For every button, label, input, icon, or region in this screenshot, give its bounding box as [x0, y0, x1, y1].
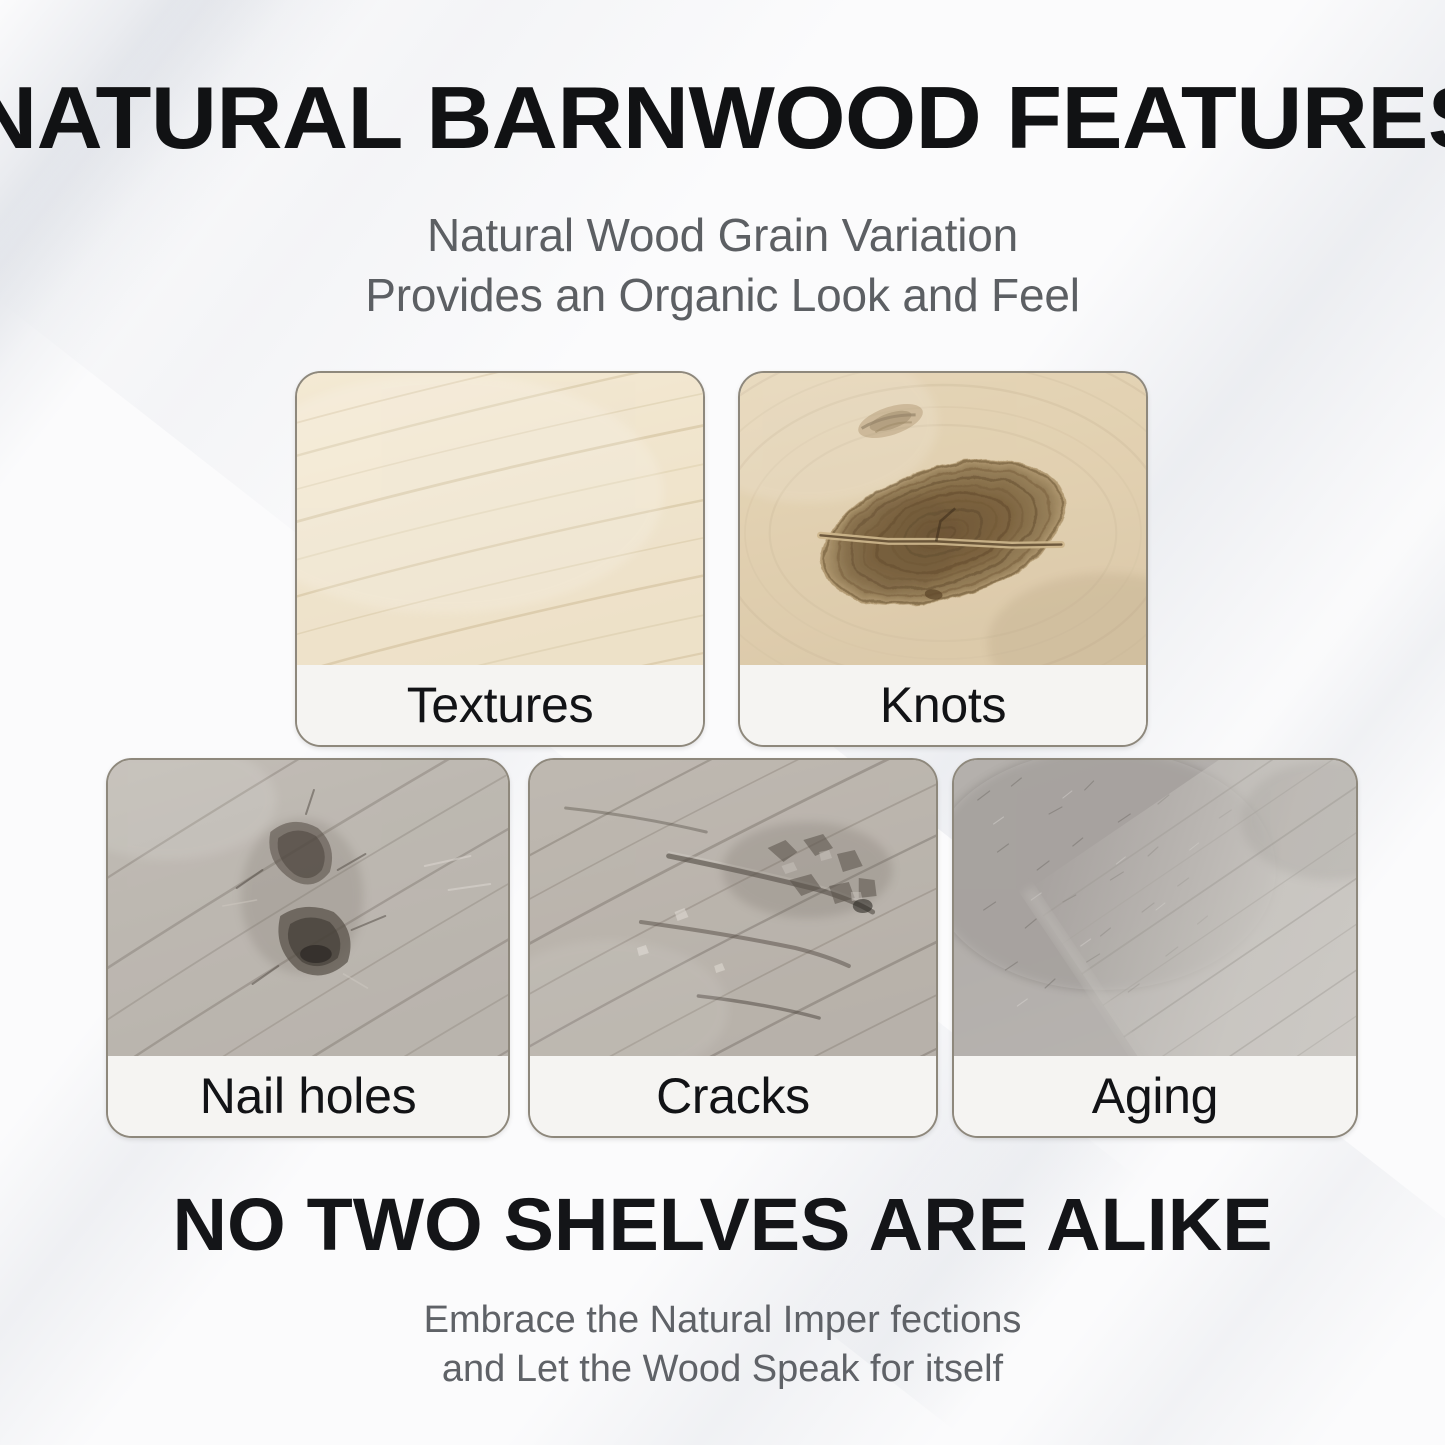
- card-label-textures: Textures: [407, 680, 594, 730]
- card-label-strip: Knots: [740, 665, 1146, 745]
- subtitle-line-1: Natural Wood Grain Variation: [0, 206, 1445, 266]
- texture-image-nail-holes: [108, 760, 508, 1060]
- card-label-nail-holes: Nail holes: [200, 1071, 417, 1121]
- card-label-strip: Aging: [954, 1056, 1356, 1136]
- footer-note-line-2: and Let the Wood Speak for itself: [0, 1345, 1445, 1394]
- feature-card-cracks[interactable]: Cracks: [528, 758, 938, 1138]
- feature-card-textures[interactable]: Textures: [295, 371, 705, 747]
- subtitle-line-2: Provides an Organic Look and Feel: [0, 266, 1445, 326]
- feature-card-knots[interactable]: Knots: [738, 371, 1148, 747]
- card-label-strip: Nail holes: [108, 1056, 508, 1136]
- page-title: NATURAL BARNWOOD FEATURES: [0, 74, 1445, 162]
- texture-image-aging: [954, 760, 1356, 1060]
- footer-note: Embrace the Natural Imper fections and L…: [0, 1296, 1445, 1393]
- card-label-strip: Textures: [297, 665, 703, 745]
- card-label-strip: Cracks: [530, 1056, 936, 1136]
- card-label-cracks: Cracks: [656, 1071, 810, 1121]
- texture-image-cracks: [530, 760, 936, 1060]
- page-subtitle: Natural Wood Grain Variation Provides an…: [0, 206, 1445, 326]
- card-label-knots: Knots: [880, 680, 1006, 730]
- infographic-canvas: Textures: [0, 0, 1445, 1445]
- feature-card-nail-holes[interactable]: Nail holes: [106, 758, 510, 1138]
- texture-image-textures: [297, 373, 703, 669]
- footer-heading: NO TWO SHELVES ARE ALIKE: [0, 1188, 1445, 1262]
- card-label-aging: Aging: [1092, 1071, 1218, 1121]
- footer-note-line-1: Embrace the Natural Imper fections: [0, 1296, 1445, 1345]
- feature-card-aging[interactable]: Aging: [952, 758, 1358, 1138]
- texture-image-knots: [740, 373, 1146, 669]
